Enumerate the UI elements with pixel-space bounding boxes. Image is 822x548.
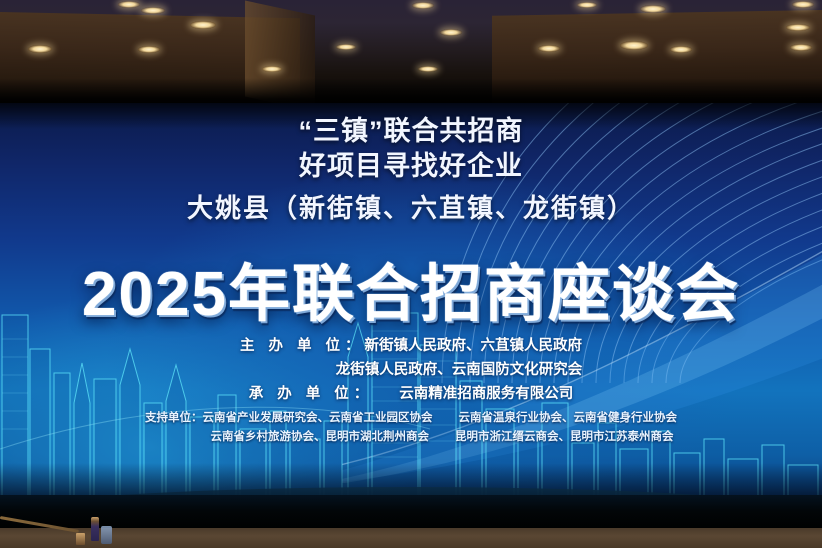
host-organizer-line-2: 龙街镇人民政府、云南国防文化研究会: [0, 358, 822, 379]
supporters-line-2: 云南省乡村旅游协会、昆明市湖北荆州商会昆明市浙江缙云商会、昆明市江苏泰州商会: [0, 428, 822, 444]
supporters-value-2a: 云南省乡村旅游协会、昆明市湖北荆州商会: [211, 431, 430, 443]
ceiling-downlight: [792, 1, 814, 8]
undertaker-value: 云南精准招商服务有限公司: [399, 386, 573, 402]
host-organizer-label: 主 办 单 位：: [240, 338, 365, 354]
undertaker-line: 承 办 单 位：云南精准招商服务有限公司: [0, 382, 822, 403]
ceiling-downlight: [418, 66, 438, 72]
stage-front-dark: [0, 495, 822, 531]
ceiling-downlight: [670, 46, 692, 53]
ceiling-downlight: [577, 2, 597, 8]
headline-line-1: “三镇”联合共招商: [0, 109, 822, 148]
ceiling-downlight: [336, 44, 356, 50]
undertaker-label: 承 办 单 位：: [249, 386, 374, 402]
supporters-value-1a: 云南省产业发展研究会、云南省工业园区协会: [203, 412, 433, 424]
ceiling: [0, 0, 822, 104]
ceiling-downlight: [118, 1, 140, 8]
ceiling-downlight: [538, 45, 560, 52]
ceiling-downlight: [640, 5, 666, 13]
cup-object: [76, 533, 85, 545]
ceiling-downlight: [440, 29, 462, 36]
ceiling-downlight: [620, 41, 648, 50]
supporters-label: 支持单位：: [145, 412, 203, 424]
ceiling-downlight: [786, 24, 810, 31]
host-organizer-value-2: 龙街镇人民政府、云南国防文化研究会: [336, 362, 583, 378]
ceiling-downlight: [262, 66, 282, 72]
headline-line-2: 好项目寻找好企业: [0, 144, 822, 183]
ceiling-downlight: [138, 46, 160, 53]
ceiling-downlight: [190, 21, 216, 29]
event-subtitle: 大姚县（新街镇、六苴镇、龙街镇）: [0, 188, 822, 225]
led-screen: “三镇”联合共招商 好项目寻找好企业 大姚县（新街镇、六苴镇、龙街镇） 2025…: [0, 103, 822, 503]
host-organizer-line-1: 主 办 单 位：新街镇人民政府、六苴镇人民政府: [0, 334, 822, 355]
supporters-line-1: 支持单位：云南省产业发展研究会、云南省工业园区协会云南省温泉行业协会、云南省健身…: [0, 409, 822, 425]
supporters-value-1b: 云南省温泉行业协会、云南省健身行业协会: [459, 412, 678, 424]
stage-floor: [0, 528, 822, 548]
host-organizer-value-1: 新街镇人民政府、六苴镇人民政府: [365, 338, 583, 354]
water-bottle: [91, 517, 99, 541]
cloth-object: [101, 526, 112, 544]
event-main-title: 2025年联合招商座谈会: [0, 243, 822, 333]
ceiling-downlight: [412, 2, 434, 9]
ceiling-downlight: [28, 45, 52, 53]
screen-text-block: “三镇”联合共招商 好项目寻找好企业 大姚县（新街镇、六苴镇、龙街镇） 2025…: [0, 103, 822, 503]
ceiling-downlight: [141, 7, 165, 14]
supporters-value-2b: 昆明市浙江缙云商会、昆明市江苏泰州商会: [455, 431, 674, 443]
conference-hall-photo: “三镇”联合共招商 好项目寻找好企业 大姚县（新街镇、六苴镇、龙街镇） 2025…: [0, 0, 822, 548]
ceiling-shadow: [0, 78, 822, 106]
ceiling-downlight: [790, 44, 812, 51]
